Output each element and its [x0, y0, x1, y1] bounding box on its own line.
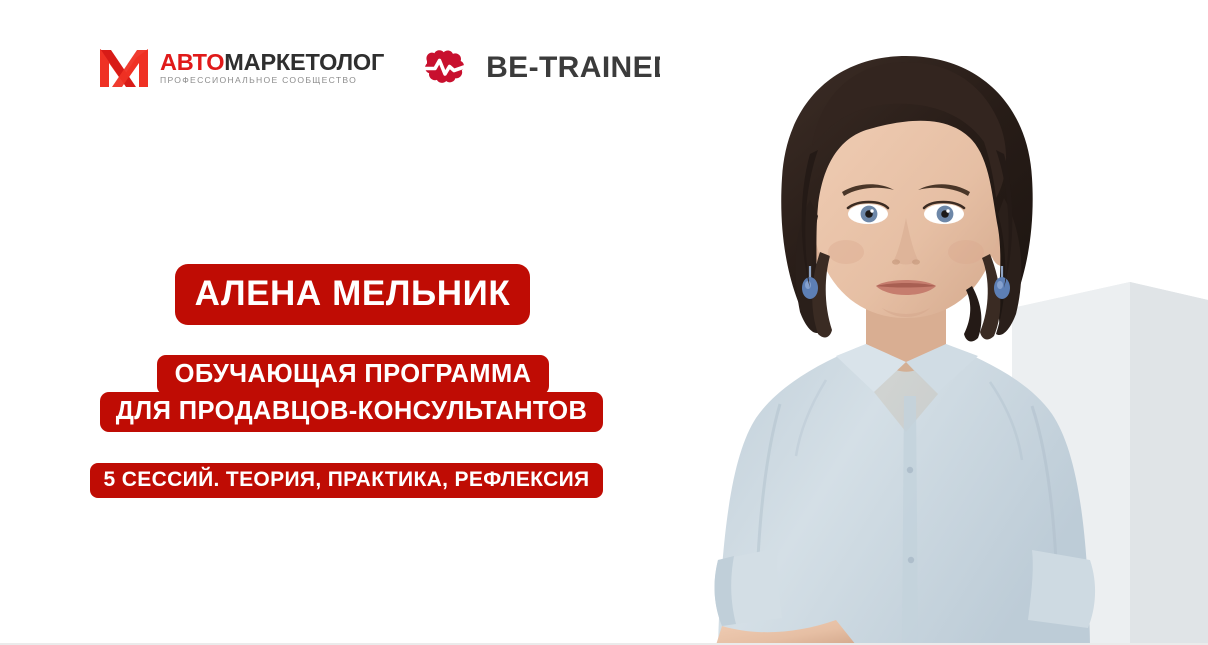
logo-be-trained[interactable]: BE-TRAINED [418, 47, 675, 89]
brain-pulse-icon [418, 47, 472, 89]
program-title-line1-banner: ОБУЧАЮЩАЯ ПРОГРАММА [157, 355, 549, 395]
logo-bar: АВТОМАРКЕТОЛОГ ПРОФЕССИОНАЛЬНОЕ СООБЩЕСТ… [98, 47, 675, 89]
am-monogram-icon [98, 47, 150, 89]
am-title-red: АВТО [160, 49, 224, 75]
promo-banner-canvas: АВТОМАРКЕТОЛОГ ПРОФЕССИОНАЛЬНОЕ СООБЩЕСТ… [0, 0, 1208, 645]
am-title: АВТОМАРКЕТОЛОГ [160, 51, 384, 75]
portrait-illustration [660, 0, 1208, 645]
am-wordmark: АВТОМАРКЕТОЛОГ ПРОФЕССИОНАЛЬНОЕ СООБЩЕСТ… [160, 51, 384, 85]
am-tagline: ПРОФЕССИОНАЛЬНОЕ СООБЩЕСТВО [160, 76, 384, 85]
be-trained-wordmark: BE-TRAINED [486, 53, 675, 83]
speaker-portrait-photo [660, 0, 1208, 645]
program-title-line2-banner: ДЛЯ ПРОДАВЦОВ-КОНСУЛЬТАНТОВ [100, 392, 603, 432]
sessions-info-banner: 5 СЕССИЙ. ТЕОРИЯ, ПРАКТИКА, РЕФЛЕКСИЯ [90, 463, 603, 498]
am-title-dark: МАРКЕТОЛОГ [224, 49, 384, 75]
speaker-name-banner: АЛЕНА МЕЛЬНИК [175, 264, 530, 325]
logo-automarketolog[interactable]: АВТОМАРКЕТОЛОГ ПРОФЕССИОНАЛЬНОЕ СООБЩЕСТ… [98, 47, 384, 89]
